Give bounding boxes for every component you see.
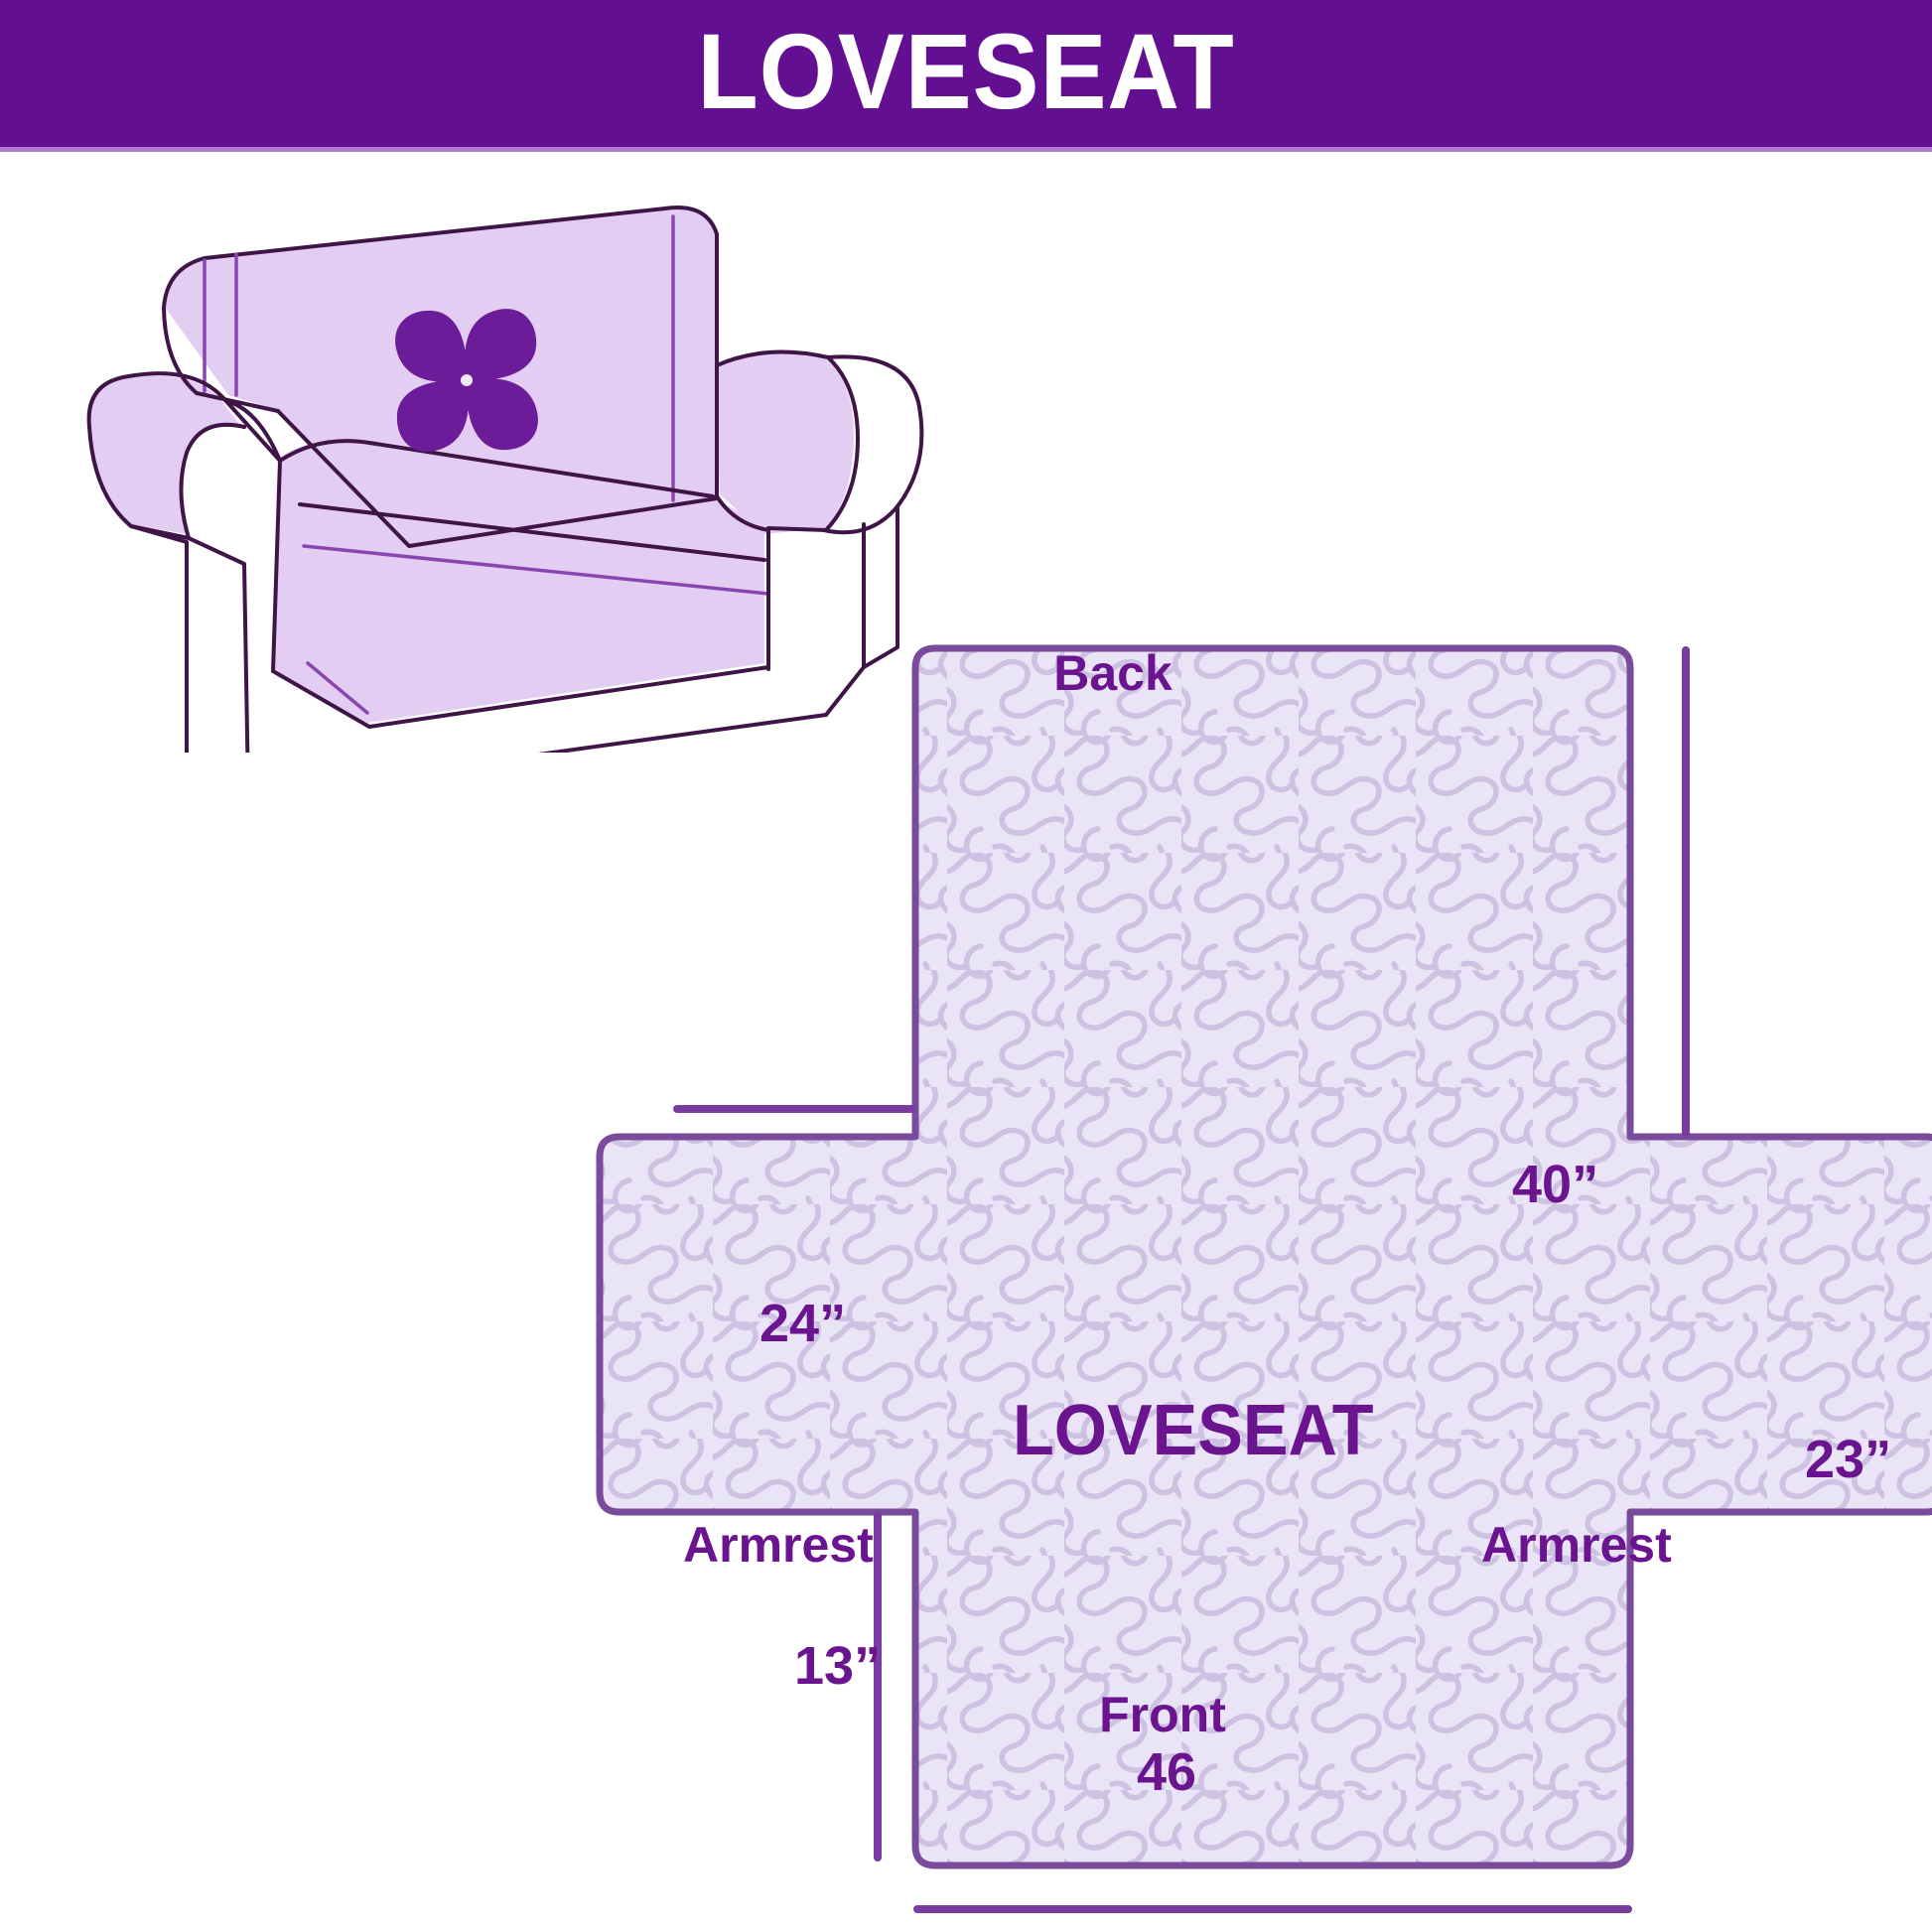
dimension-label-total-width: 46 <box>1137 1745 1196 1799</box>
header-banner: LOVESEAT <box>0 0 1932 147</box>
section-label-armrest-right: Armrest <box>1481 1520 1672 1570</box>
section-label-back: Back <box>1053 648 1173 698</box>
section-label-front: Front <box>1099 1690 1226 1739</box>
dimension-label-armrest-width: 24” <box>759 1297 846 1350</box>
section-label-armrest-left: Armrest <box>683 1520 874 1570</box>
diagram-canvas: .sf { fill:#e3cdf2; } .sw { fill:#ffffff… <box>0 152 1932 1932</box>
dimension-label-back-height: 40” <box>1512 1158 1598 1211</box>
pattern-center-label: LOVESEAT <box>1013 1395 1374 1466</box>
dimension-label-armrest-height: 23” <box>1805 1433 1891 1486</box>
dimension-label-front-height: 13” <box>794 1639 881 1693</box>
page-title: LOVESEAT <box>697 18 1234 125</box>
loveseat-cover-pattern-diagram <box>596 619 1932 1929</box>
